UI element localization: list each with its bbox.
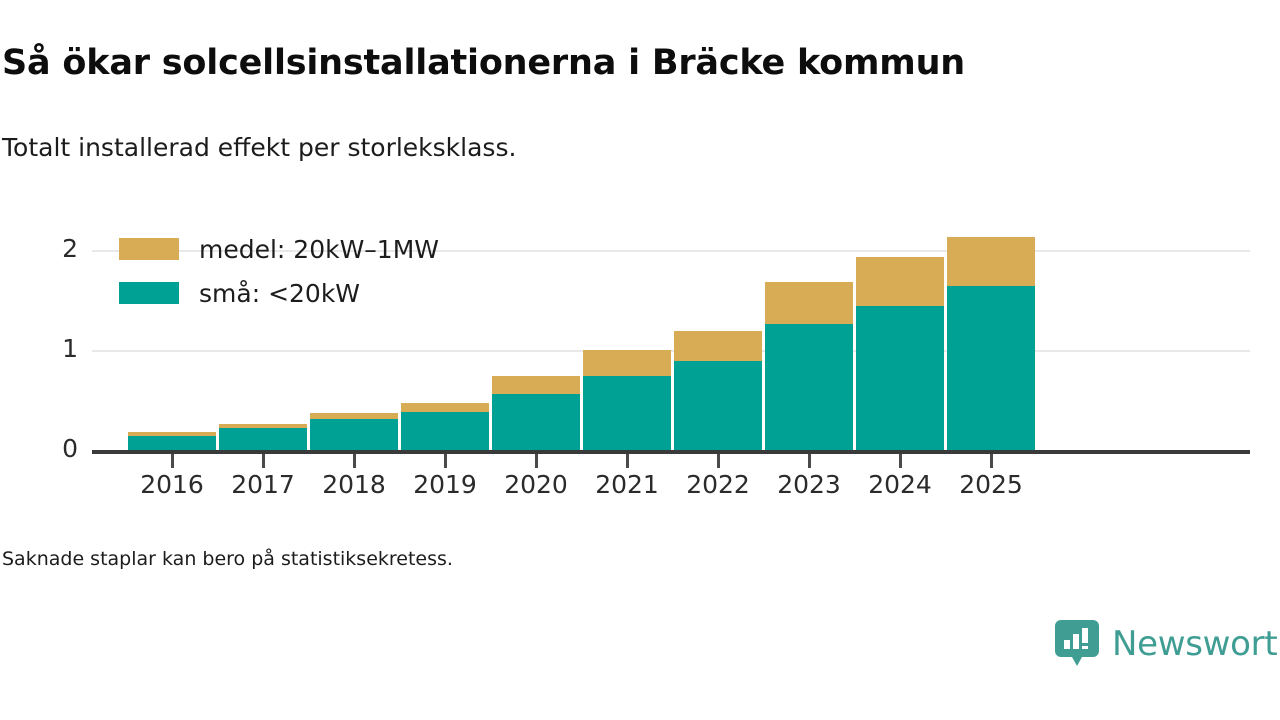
x-axis-tick-mark-2016	[171, 454, 174, 468]
bar-group-2020[interactable]	[492, 376, 580, 450]
chart-page: Så ökar solcellsinstallationerna i Bräck…	[0, 0, 1280, 720]
bar-group-2025[interactable]	[947, 237, 1035, 450]
gridline-1	[92, 350, 1250, 352]
legend-item-sma[interactable]: små: <20kW	[119, 276, 439, 310]
bar-group-2017[interactable]	[219, 424, 307, 450]
bar-segment-sma-2022[interactable]	[674, 361, 762, 450]
x-axis-tick-mark-2021	[626, 454, 629, 468]
bar-group-2024[interactable]	[856, 257, 944, 450]
legend-label-sma: små: <20kW	[199, 281, 360, 306]
bar-group-2022[interactable]	[674, 331, 762, 450]
x-axis-line	[92, 450, 1250, 454]
chart-plot-area: 012 201620172018201920202021202220232024…	[0, 0, 1280, 720]
y-axis-tick-0: 0	[38, 436, 78, 461]
newsworthy-bubble-chart-icon	[1055, 620, 1099, 668]
brand-logo: Newsworthy	[1055, 620, 1280, 668]
legend-item-medel[interactable]: medel: 20kW–1MW	[119, 232, 439, 266]
bar-group-2023[interactable]	[765, 282, 853, 450]
legend-swatch-medel	[119, 238, 179, 260]
x-axis-tick-mark-2022	[717, 454, 720, 468]
x-axis-tick-mark-2020	[535, 454, 538, 468]
bar-group-2018[interactable]	[310, 413, 398, 450]
brand-name: Newsworthy	[1112, 627, 1280, 661]
legend-swatch-sma	[119, 282, 179, 304]
bar-segment-sma-2019[interactable]	[401, 412, 489, 450]
bar-segment-sma-2025[interactable]	[947, 286, 1035, 450]
bar-segment-sma-2017[interactable]	[219, 428, 307, 450]
x-axis-tick-mark-2018	[353, 454, 356, 468]
bar-segment-sma-2016[interactable]	[128, 436, 216, 450]
y-axis-tick-1: 1	[38, 336, 78, 361]
bar-segment-sma-2020[interactable]	[492, 394, 580, 450]
bar-group-2019[interactable]	[401, 403, 489, 450]
bar-segment-medel-2025[interactable]	[947, 237, 1035, 286]
bar-segment-sma-2023[interactable]	[765, 324, 853, 450]
bar-segment-sma-2024[interactable]	[856, 306, 944, 450]
bar-segment-medel-2019[interactable]	[401, 403, 489, 412]
bar-group-2016[interactable]	[128, 432, 216, 450]
bar-segment-medel-2023[interactable]	[765, 282, 853, 324]
bar-segment-sma-2021[interactable]	[583, 376, 671, 450]
bar-segment-medel-2021[interactable]	[583, 350, 671, 376]
bar-segment-medel-2020[interactable]	[492, 376, 580, 394]
y-axis-tick-2: 2	[38, 236, 78, 261]
chart-legend: medel: 20kW–1MWsmå: <20kW	[119, 232, 439, 320]
legend-label-medel: medel: 20kW–1MW	[199, 237, 439, 262]
bar-segment-medel-2024[interactable]	[856, 257, 944, 306]
x-axis-tick-mark-2025	[990, 454, 993, 468]
x-axis-tick-mark-2017	[262, 454, 265, 468]
bar-group-2021[interactable]	[583, 350, 671, 450]
x-axis-tick-mark-2024	[899, 454, 902, 468]
x-axis-tick-mark-2023	[808, 454, 811, 468]
x-axis-tick-2025: 2025	[936, 470, 1046, 500]
x-axis-tick-mark-2019	[444, 454, 447, 468]
chart-footnote: Saknade staplar kan bero på statistiksek…	[2, 548, 453, 570]
bar-segment-medel-2022[interactable]	[674, 331, 762, 361]
bar-segment-sma-2018[interactable]	[310, 419, 398, 450]
